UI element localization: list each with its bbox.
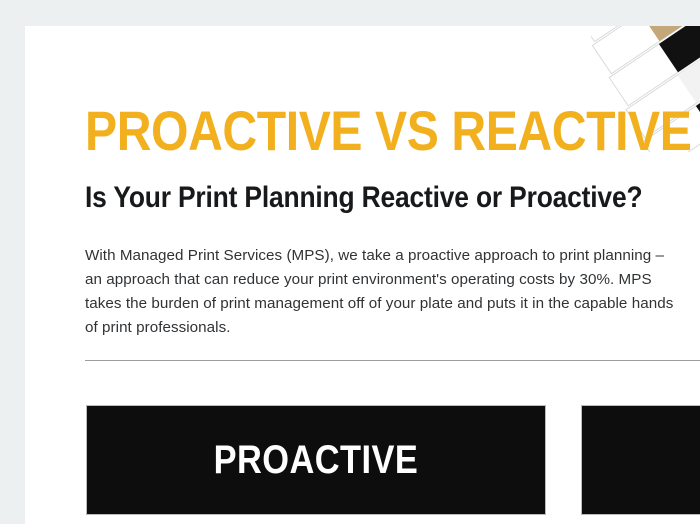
- panel-proactive-label: PROACTIVE: [214, 439, 419, 481]
- content-card: PROACTIVE VS REACTIVE Is Your Print Plan…: [25, 26, 700, 524]
- panel-proactive[interactable]: PROACTIVE: [86, 405, 546, 515]
- comparison-panel-row: PROACTIVE: [86, 405, 700, 524]
- section-divider: [85, 360, 700, 361]
- panel-reactive[interactable]: [581, 405, 700, 515]
- intro-paragraph: With Managed Print Services (MPS), we ta…: [85, 244, 685, 340]
- page-subtitle: Is Your Print Planning Reactive or Proac…: [85, 181, 642, 215]
- page-viewport: PROACTIVE VS REACTIVE Is Your Print Plan…: [0, 0, 700, 524]
- page-title: PROACTIVE VS REACTIVE: [85, 102, 691, 160]
